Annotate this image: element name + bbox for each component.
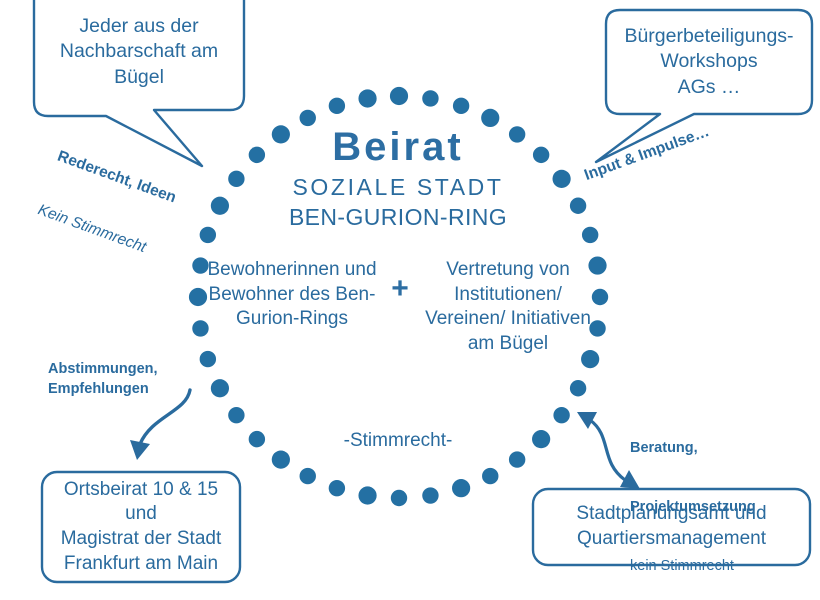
circle-footer-stimmrecht: -Stimmrecht- bbox=[268, 430, 528, 452]
label-rederecht: Rederecht, Ideen Kein Stimmrecht bbox=[22, 112, 191, 297]
box-stadtplanungsamt[interactable]: Stadtplanungsamt und Quartiersmanagement bbox=[533, 489, 810, 565]
bubble-top-left-text: Jeder aus der Nachbarschaft am Bügel bbox=[60, 14, 218, 90]
bubble-top-right-text: Bürgerbeteiligungs- Workshops AGs … bbox=[624, 24, 793, 100]
ring-dot bbox=[329, 480, 345, 496]
ring-dot bbox=[422, 487, 438, 503]
ring-dot bbox=[453, 98, 469, 114]
ring-dot bbox=[249, 431, 265, 447]
ring-dot bbox=[582, 227, 598, 243]
ring-dot bbox=[391, 490, 407, 506]
circle-title-block: Beirat SOZIALE STADT BEN-GURION-RING bbox=[238, 126, 558, 232]
ring-dot bbox=[422, 90, 438, 106]
circle-right-column: Vertretung von Institutionen/ Vereinen/ … bbox=[423, 258, 593, 357]
arrow-down-left bbox=[130, 390, 190, 460]
ring-dot bbox=[200, 227, 216, 243]
ring-dot bbox=[272, 451, 290, 469]
ring-dot bbox=[329, 98, 345, 114]
ring-dot bbox=[509, 451, 525, 467]
label-rederecht-bold: Rederecht, Ideen bbox=[55, 148, 179, 208]
circle-body: Bewohnerinnen und Bewohner des Ben-Gurio… bbox=[205, 258, 595, 357]
ring-dot bbox=[553, 407, 569, 423]
ring-dot bbox=[482, 468, 498, 484]
label-rederecht-regular: Kein Stimmrecht bbox=[35, 201, 159, 261]
ring-dot bbox=[570, 198, 586, 214]
ring-dot bbox=[211, 379, 229, 397]
ring-dot bbox=[358, 486, 376, 504]
bubble-top-left[interactable]: Jeder aus der Nachbarschaft am Bügel bbox=[34, 0, 244, 110]
ring-dot bbox=[300, 468, 316, 484]
ring-dot bbox=[452, 479, 470, 497]
ring-dot bbox=[228, 407, 244, 423]
ring-dot bbox=[358, 89, 376, 107]
box-ortsbeirat[interactable]: Ortsbeirat 10 & 15 und Magistrat der Sta… bbox=[42, 472, 240, 582]
circle-title-sub1: SOZIALE STADT bbox=[238, 172, 558, 203]
circle-title-sub2: BEN-GURION-RING bbox=[238, 203, 558, 232]
box-ortsbeirat-text: Ortsbeirat 10 & 15 und Magistrat der Sta… bbox=[61, 478, 222, 577]
label-input-impulse: Input & Impulse… bbox=[582, 123, 712, 186]
ring-dot bbox=[532, 430, 550, 448]
ring-dot bbox=[570, 380, 586, 396]
label-abstimmungen: Abstimmungen, Empfehlungen bbox=[48, 360, 158, 399]
label-beratung-line1: Beratung, bbox=[630, 439, 756, 459]
plus-sign: + bbox=[377, 258, 423, 306]
ring-dot bbox=[390, 87, 408, 105]
circle-title-main: Beirat bbox=[238, 126, 558, 168]
ring-dot bbox=[211, 197, 229, 215]
circle-left-column: Bewohnerinnen und Bewohner des Ben-Gurio… bbox=[207, 258, 377, 332]
diagram-canvas: Jeder aus der Nachbarschaft am Bügel Bür… bbox=[0, 0, 820, 600]
box-stadtplanungsamt-text: Stadtplanungsamt und Quartiersmanagement bbox=[576, 502, 766, 551]
bubble-top-right[interactable]: Bürgerbeteiligungs- Workshops AGs … bbox=[606, 12, 812, 112]
ring-dot bbox=[300, 110, 316, 126]
ring-dot bbox=[481, 109, 499, 127]
